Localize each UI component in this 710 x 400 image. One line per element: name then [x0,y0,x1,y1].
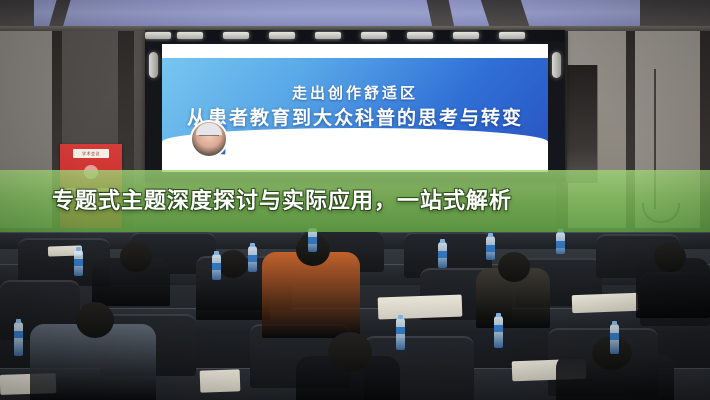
spotlight [223,32,249,39]
bottle-label [74,259,83,266]
water-bottle [248,246,257,272]
attendee [556,354,674,400]
spotlight [145,32,171,39]
ceiling [0,0,710,32]
bottle-label [14,331,23,338]
water-bottle [556,232,565,254]
portrait-glasses [199,135,219,141]
attendee [92,258,170,306]
spotlight [177,32,203,39]
water-bottle [438,242,447,268]
bottle-label [494,325,503,332]
side-door [567,65,598,183]
water-bottle [74,250,83,276]
bottle-label [486,245,495,252]
paper-handout [378,295,463,320]
paper-handout [200,369,241,392]
spotlight [315,32,341,39]
spotlight [499,32,525,39]
presentation-slide: 走出创作舒适区 从患者教育到大众科普的思考与转变 中国医学科学院肿瘤医院 田艳涛 [162,44,548,172]
bottle-label [308,237,317,244]
slide-background: 走出创作舒适区 从患者教育到大众科普的思考与转变 中国医学科学院肿瘤医院 田艳涛 [162,58,548,152]
water-bottle [212,254,221,280]
spotlight [269,32,295,39]
spotlight [552,52,561,78]
water-bottle [396,318,405,350]
spotlight [149,52,158,78]
attendee [196,264,270,320]
attendee-head [654,242,686,272]
spotlight [361,32,387,39]
bottle-label [610,333,619,340]
bottle-label [212,263,221,270]
spotlight-rail [145,30,565,42]
water-bottle [494,316,503,348]
banner-tag-text: 学术会议 [73,149,109,158]
photo-canvas: 走出创作舒适区 从患者教育到大众科普的思考与转变 中国医学科学院肿瘤医院 田艳涛… [0,0,710,400]
attendee-head [328,332,372,372]
attendee [30,324,156,400]
speaker-portrait [190,120,228,158]
water-bottle [610,324,619,354]
spotlight [453,32,479,39]
attendee-head [218,250,248,278]
attendee [636,258,710,318]
water-bottle [14,322,23,356]
paper-handout [572,293,639,313]
attendee-head [120,242,152,272]
attendee-head [76,302,114,338]
attendee-head [498,252,530,282]
caption-text: 专题式主题深度探讨与实际应用，一站式解析 [0,172,710,230]
slide-title-line-1: 走出创作舒适区 [162,82,548,103]
banner-tag: 学术会议 [73,149,109,158]
bottle-label [438,251,447,258]
audience-area [0,228,710,400]
projection-screen: 走出创作舒适区 从患者教育到大众科普的思考与转变 中国医学科学院肿瘤医院 田艳涛 [145,30,565,182]
bottle-label [396,327,405,334]
attendee [262,252,360,338]
spotlight [407,32,433,39]
attendee [476,268,550,328]
attendee [296,356,400,400]
portrait-hair [196,123,222,135]
bottle-label [248,255,257,262]
water-bottle [486,236,495,260]
bottle-label [556,241,565,248]
